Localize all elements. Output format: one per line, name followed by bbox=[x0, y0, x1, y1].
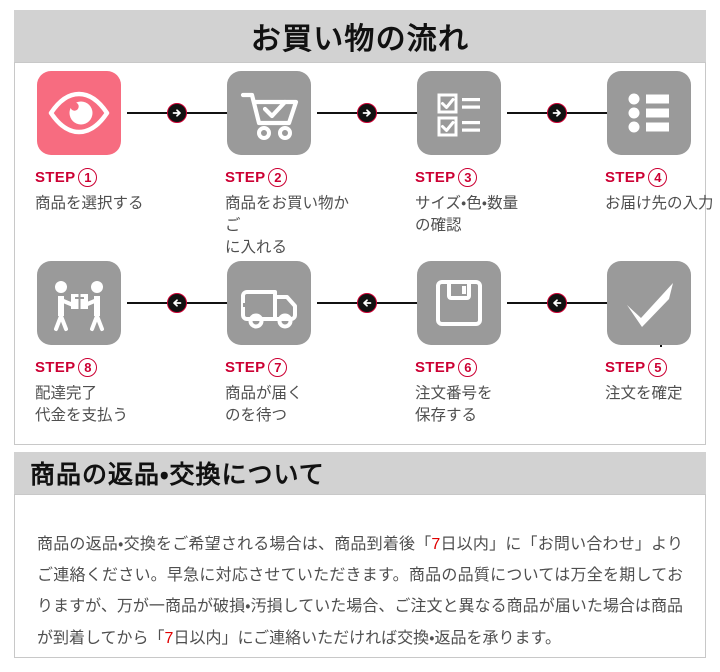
returns-highlight-days-1: 7 bbox=[431, 536, 440, 553]
returns-policy-body: 商品の返品・交換をご希望される場合は、商品到着後「7日以内」に「お問い合わせ」よ… bbox=[37, 529, 683, 654]
step-number: 1 bbox=[78, 168, 97, 187]
step-4-tile bbox=[607, 71, 691, 155]
returns-policy-title: 商品の返品・交換について bbox=[30, 455, 325, 491]
step-1-description: 商品を選択する bbox=[35, 193, 173, 215]
flow-step-3[interactable]: STEP 3 サイズ・色・数量 の確認 bbox=[403, 71, 553, 237]
step-number: 7 bbox=[268, 358, 287, 377]
shopping-flow-panel: STEP 1 商品を選択する STEP 2 bbox=[14, 62, 706, 445]
step-3-tile bbox=[417, 71, 501, 155]
shopping-flow-header: お買い物の流れ bbox=[14, 10, 706, 62]
step-number: 8 bbox=[78, 358, 97, 377]
flow-step-5[interactable]: STEP 5 注文を確定 bbox=[593, 261, 720, 405]
checkmark-icon bbox=[607, 261, 691, 345]
step-2-tile bbox=[227, 71, 311, 155]
step-6-label: STEP 6 bbox=[415, 357, 553, 378]
delivery-truck-icon bbox=[227, 261, 311, 345]
step-1-label: STEP 1 bbox=[35, 167, 173, 188]
step-3-description: サイズ・色・数量 の確認 bbox=[415, 193, 553, 237]
step-4-label: STEP 4 bbox=[605, 167, 720, 188]
returns-policy-header: 商品の返品・交換について bbox=[14, 452, 706, 494]
step-1-tile bbox=[37, 71, 121, 155]
flow-step-2[interactable]: STEP 2 商品をお買い物かご に入れる bbox=[213, 71, 363, 259]
step-word: STEP bbox=[35, 360, 75, 375]
step-3-label: STEP 3 bbox=[415, 167, 553, 188]
flow-step-7[interactable]: STEP 7 商品が届く のを待つ bbox=[213, 261, 363, 427]
list-icon bbox=[607, 71, 691, 155]
step-7-label: STEP 7 bbox=[225, 357, 363, 378]
step-number: 5 bbox=[648, 358, 667, 377]
shopping-cart-icon bbox=[227, 71, 311, 155]
flow-step-6[interactable]: STEP 6 注文番号を 保存する bbox=[403, 261, 553, 427]
step-word: STEP bbox=[225, 360, 265, 375]
step-2-label: STEP 2 bbox=[225, 167, 363, 188]
shopping-flow-page: お買い物の流れ bbox=[0, 0, 720, 672]
step-number: 6 bbox=[458, 358, 477, 377]
checklist-icon bbox=[417, 71, 501, 155]
step-6-description: 注文番号を 保存する bbox=[415, 383, 553, 427]
step-number: 2 bbox=[268, 168, 287, 187]
step-7-description: 商品が届く のを待つ bbox=[225, 383, 363, 427]
shopping-flow-title: お買い物の流れ bbox=[251, 14, 469, 58]
returns-body-text-3: 日以内」にご連絡いただければ交換・返品を承ります。 bbox=[173, 630, 561, 647]
step-number: 4 bbox=[648, 168, 667, 187]
step-word: STEP bbox=[605, 170, 645, 185]
step-number: 3 bbox=[458, 168, 477, 187]
step-8-tile bbox=[37, 261, 121, 345]
eye-icon bbox=[37, 71, 121, 155]
step-word: STEP bbox=[605, 360, 645, 375]
floppy-disk-save-icon bbox=[417, 261, 501, 345]
step-8-label: STEP 8 bbox=[35, 357, 173, 378]
step-word: STEP bbox=[415, 170, 455, 185]
flow-step-1[interactable]: STEP 1 商品を選択する bbox=[23, 71, 173, 215]
step-5-label: STEP 5 bbox=[605, 357, 720, 378]
flow-row-bottom: STEP 8 配達完了 代金を支払う STEP bbox=[15, 261, 707, 451]
returns-body-text-1: 商品の返品・交換をご希望される場合は、商品到着後「 bbox=[37, 536, 431, 553]
step-word: STEP bbox=[35, 170, 75, 185]
step-word: STEP bbox=[415, 360, 455, 375]
flow-row-top: STEP 1 商品を選択する STEP 2 bbox=[15, 71, 707, 261]
step-2-description: 商品をお買い物かご に入れる bbox=[225, 193, 363, 259]
step-7-tile bbox=[227, 261, 311, 345]
flow-step-8[interactable]: STEP 8 配達完了 代金を支払う bbox=[23, 261, 173, 427]
step-4-description: お届け先の入力 bbox=[605, 193, 720, 215]
step-6-tile bbox=[417, 261, 501, 345]
step-word: STEP bbox=[225, 170, 265, 185]
returns-policy-panel: 商品の返品・交換をご希望される場合は、商品到着後「7日以内」に「お問い合わせ」よ… bbox=[14, 494, 706, 658]
step-5-tile bbox=[607, 261, 691, 345]
flow-step-4[interactable]: STEP 4 お届け先の入力 bbox=[593, 71, 720, 215]
package-handover-icon bbox=[37, 261, 121, 345]
step-5-description: 注文を確定 bbox=[605, 383, 720, 405]
step-8-description: 配達完了 代金を支払う bbox=[35, 383, 173, 427]
